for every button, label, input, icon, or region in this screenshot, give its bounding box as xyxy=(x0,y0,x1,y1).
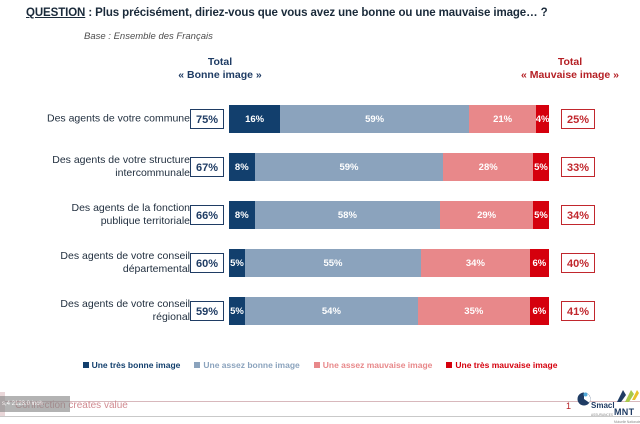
column-header-bad: Total « Mauvaise image » xyxy=(500,56,640,82)
chart-legend: Une très bonne imageUne assez bonne imag… xyxy=(0,360,640,370)
watermark-overlay: s,4 2123.0 inch xyxy=(0,396,70,412)
bar-segment-label: 58% xyxy=(338,210,357,221)
total-good-value: 60% xyxy=(190,253,224,273)
bar-segment-label: 35% xyxy=(464,306,483,317)
row-label: Des agents de votre commune xyxy=(10,113,190,126)
bar-segment-label: 55% xyxy=(323,258,342,269)
bar-segment: 5% xyxy=(533,153,549,181)
total-bad-value: 33% xyxy=(561,157,595,177)
page-number: 1 xyxy=(566,401,571,411)
total-bad-value: 40% xyxy=(561,253,595,273)
bar-segment: 59% xyxy=(255,153,444,181)
legend-swatch-icon xyxy=(83,362,89,368)
bar-segment: 35% xyxy=(418,297,530,325)
column-header-bad-title: Total xyxy=(558,56,582,68)
column-header-bad-subtitle: « Mauvaise image » xyxy=(500,69,640,82)
base-note: Base : Ensemble des Français xyxy=(84,31,213,42)
stacked-bar: 8%58%29%5% xyxy=(229,201,549,229)
bar-segment: 5% xyxy=(229,297,245,325)
total-good-value: 75% xyxy=(190,109,224,129)
bar-segment-label: 59% xyxy=(365,114,384,125)
bar-segment-label: 54% xyxy=(322,306,341,317)
legend-item: Une assez mauvaise image xyxy=(314,360,433,370)
bar-segment-label: 8% xyxy=(235,210,249,221)
bar-segment-label: 5% xyxy=(534,162,548,173)
bar-segment: 8% xyxy=(229,153,255,181)
column-header-good-subtitle: « Bonne image » xyxy=(150,69,290,82)
row-label-line2: départemental xyxy=(123,263,190,275)
bar-segment: 21% xyxy=(469,105,536,133)
bar-segment-label: 4% xyxy=(536,114,549,125)
bar-segment-label: 5% xyxy=(230,306,244,317)
row-label-line2: publique territoriale xyxy=(101,215,190,227)
row-label-line2: régional xyxy=(153,311,190,323)
legend-label: Une très bonne image xyxy=(92,360,181,370)
mnt-logo: MNT Mutuelle Nationale Territoriale xyxy=(614,389,640,416)
bar-segment: 59% xyxy=(280,105,469,133)
chart-row: Des agents de votre structureintercommun… xyxy=(0,143,640,191)
mnt-logo-mark xyxy=(614,389,640,403)
bar-segment: 55% xyxy=(245,249,421,277)
bar-segment-label: 29% xyxy=(477,210,496,221)
legend-label: Une très mauvaise image xyxy=(455,360,557,370)
bar-segment-label: 5% xyxy=(230,258,244,269)
column-header-good: Total « Bonne image » xyxy=(150,56,290,82)
bar-segment-label: 34% xyxy=(466,258,485,269)
legend-item: Une très bonne image xyxy=(83,360,181,370)
bar-segment-label: 5% xyxy=(534,210,548,221)
bar-segment: 5% xyxy=(229,249,245,277)
total-bad-value: 41% xyxy=(561,301,595,321)
bar-segment: 6% xyxy=(530,297,549,325)
bar-segment: 34% xyxy=(421,249,530,277)
chart-row: Des agents de la fonctionpublique territ… xyxy=(0,191,640,239)
legend-swatch-icon xyxy=(446,362,452,368)
total-good-value: 59% xyxy=(190,301,224,321)
question-label: QUESTION xyxy=(26,7,85,19)
row-label: Des agents de la fonctionpublique territ… xyxy=(10,202,190,228)
stacked-bar: 5%54%35%6% xyxy=(229,297,549,325)
bar-segment-label: 59% xyxy=(339,162,358,173)
bar-segment: 16% xyxy=(229,105,280,133)
bar-segment-label: 6% xyxy=(533,306,547,317)
bar-segment-label: 21% xyxy=(493,114,512,125)
bar-segment: 58% xyxy=(255,201,441,229)
chart-row: Des agents de votre commune75%16%59%21%4… xyxy=(0,95,640,143)
question-text: : Plus précisément, diriez-vous que vous… xyxy=(85,7,547,19)
bar-segment: 4% xyxy=(536,105,549,133)
smacl-logo-text: Smacl xyxy=(591,401,615,410)
bar-segment-label: 28% xyxy=(479,162,498,173)
bar-segment: 29% xyxy=(440,201,533,229)
legend-swatch-icon xyxy=(194,362,200,368)
legend-item: Une très mauvaise image xyxy=(446,360,557,370)
stacked-bar: 8%59%28%5% xyxy=(229,153,549,181)
total-good-value: 66% xyxy=(190,205,224,225)
total-good-value: 67% xyxy=(190,157,224,177)
bar-segment: 28% xyxy=(443,153,533,181)
chart-row: Des agents de votre conseildépartemental… xyxy=(0,239,640,287)
bar-segment: 8% xyxy=(229,201,255,229)
row-label: Des agents de votre structureintercommun… xyxy=(10,154,190,180)
row-label: Des agents de votre conseilrégional xyxy=(10,298,190,324)
legend-swatch-icon xyxy=(314,362,320,368)
legend-label: Une assez mauvaise image xyxy=(323,360,433,370)
footer-divider-bottom xyxy=(0,416,640,417)
legend-label: Une assez bonne image xyxy=(203,360,299,370)
row-label-line2: intercommunale xyxy=(115,167,190,179)
bar-segment: 6% xyxy=(530,249,549,277)
row-label: Des agents de votre conseildépartemental xyxy=(10,250,190,276)
bar-segment-label: 8% xyxy=(235,162,249,173)
total-bad-value: 25% xyxy=(561,109,595,129)
question-header: QUESTION : Plus précisément, diriez-vous… xyxy=(26,7,548,19)
bar-segment: 5% xyxy=(533,201,549,229)
smacl-logo: Smacl ASSURANCES xyxy=(576,390,614,416)
stacked-bar: 5%55%34%6% xyxy=(229,249,549,277)
chart-rows: Des agents de votre commune75%16%59%21%4… xyxy=(0,95,640,335)
stacked-bar: 16%59%21%4% xyxy=(229,105,549,133)
mnt-logo-subtext: Mutuelle Nationale Territoriale xyxy=(614,420,640,424)
chart-row: Des agents de votre conseilrégional59%5%… xyxy=(0,287,640,335)
bar-segment-label: 6% xyxy=(533,258,547,269)
bar-segment: 54% xyxy=(245,297,418,325)
bar-segment-label: 16% xyxy=(245,114,264,125)
total-bad-value: 34% xyxy=(561,205,595,225)
legend-item: Une assez bonne image xyxy=(194,360,299,370)
column-header-good-title: Total xyxy=(208,56,232,68)
